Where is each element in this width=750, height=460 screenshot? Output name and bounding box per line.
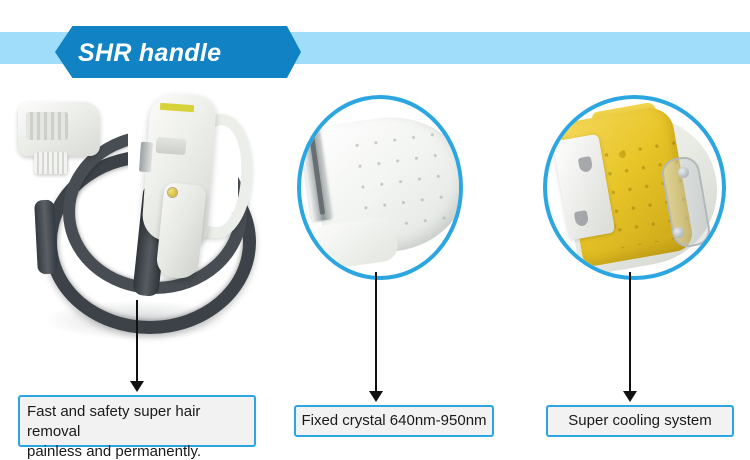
callout-hair-removal: Fast and safety super hair removal painl…	[18, 395, 256, 447]
fixed-crystal-closeup-photo	[297, 95, 463, 280]
callout-fixed-crystal: Fixed crystal 640nm-950nm	[294, 405, 494, 437]
handpiece-display-window	[155, 137, 186, 155]
page-title: SHR handle	[78, 34, 288, 72]
cooling-screw-hole-top	[619, 151, 626, 158]
arrow-line-removal	[136, 300, 138, 382]
arrow-line-crystal	[375, 272, 377, 392]
arrow-line-cooling	[629, 272, 631, 392]
crystal-head-base	[316, 216, 399, 270]
arrow-head-crystal	[369, 391, 383, 402]
callout-hair-removal-line2: painless and permanently.	[27, 442, 247, 460]
connector-fins	[26, 112, 68, 140]
callout-hair-removal-line1: Fast and safety super hair removal	[27, 402, 247, 442]
callout-super-cooling: Super cooling system	[546, 405, 734, 437]
product-feature-page: SHR handle	[0, 0, 750, 460]
connector-threaded-nut	[34, 152, 68, 174]
cable-neck	[34, 200, 58, 275]
shr-handpiece-with-cable-photo	[8, 88, 260, 378]
arrow-head-removal	[130, 381, 144, 392]
handpiece-trigger-button	[168, 188, 177, 197]
cooling-clip-screw-lower	[673, 227, 684, 238]
handpiece-crystal-tip	[139, 142, 153, 173]
arrow-head-cooling	[623, 391, 637, 402]
cooling-clip-screw-upper	[678, 167, 689, 178]
cooling-system-closeup-photo	[543, 95, 726, 280]
